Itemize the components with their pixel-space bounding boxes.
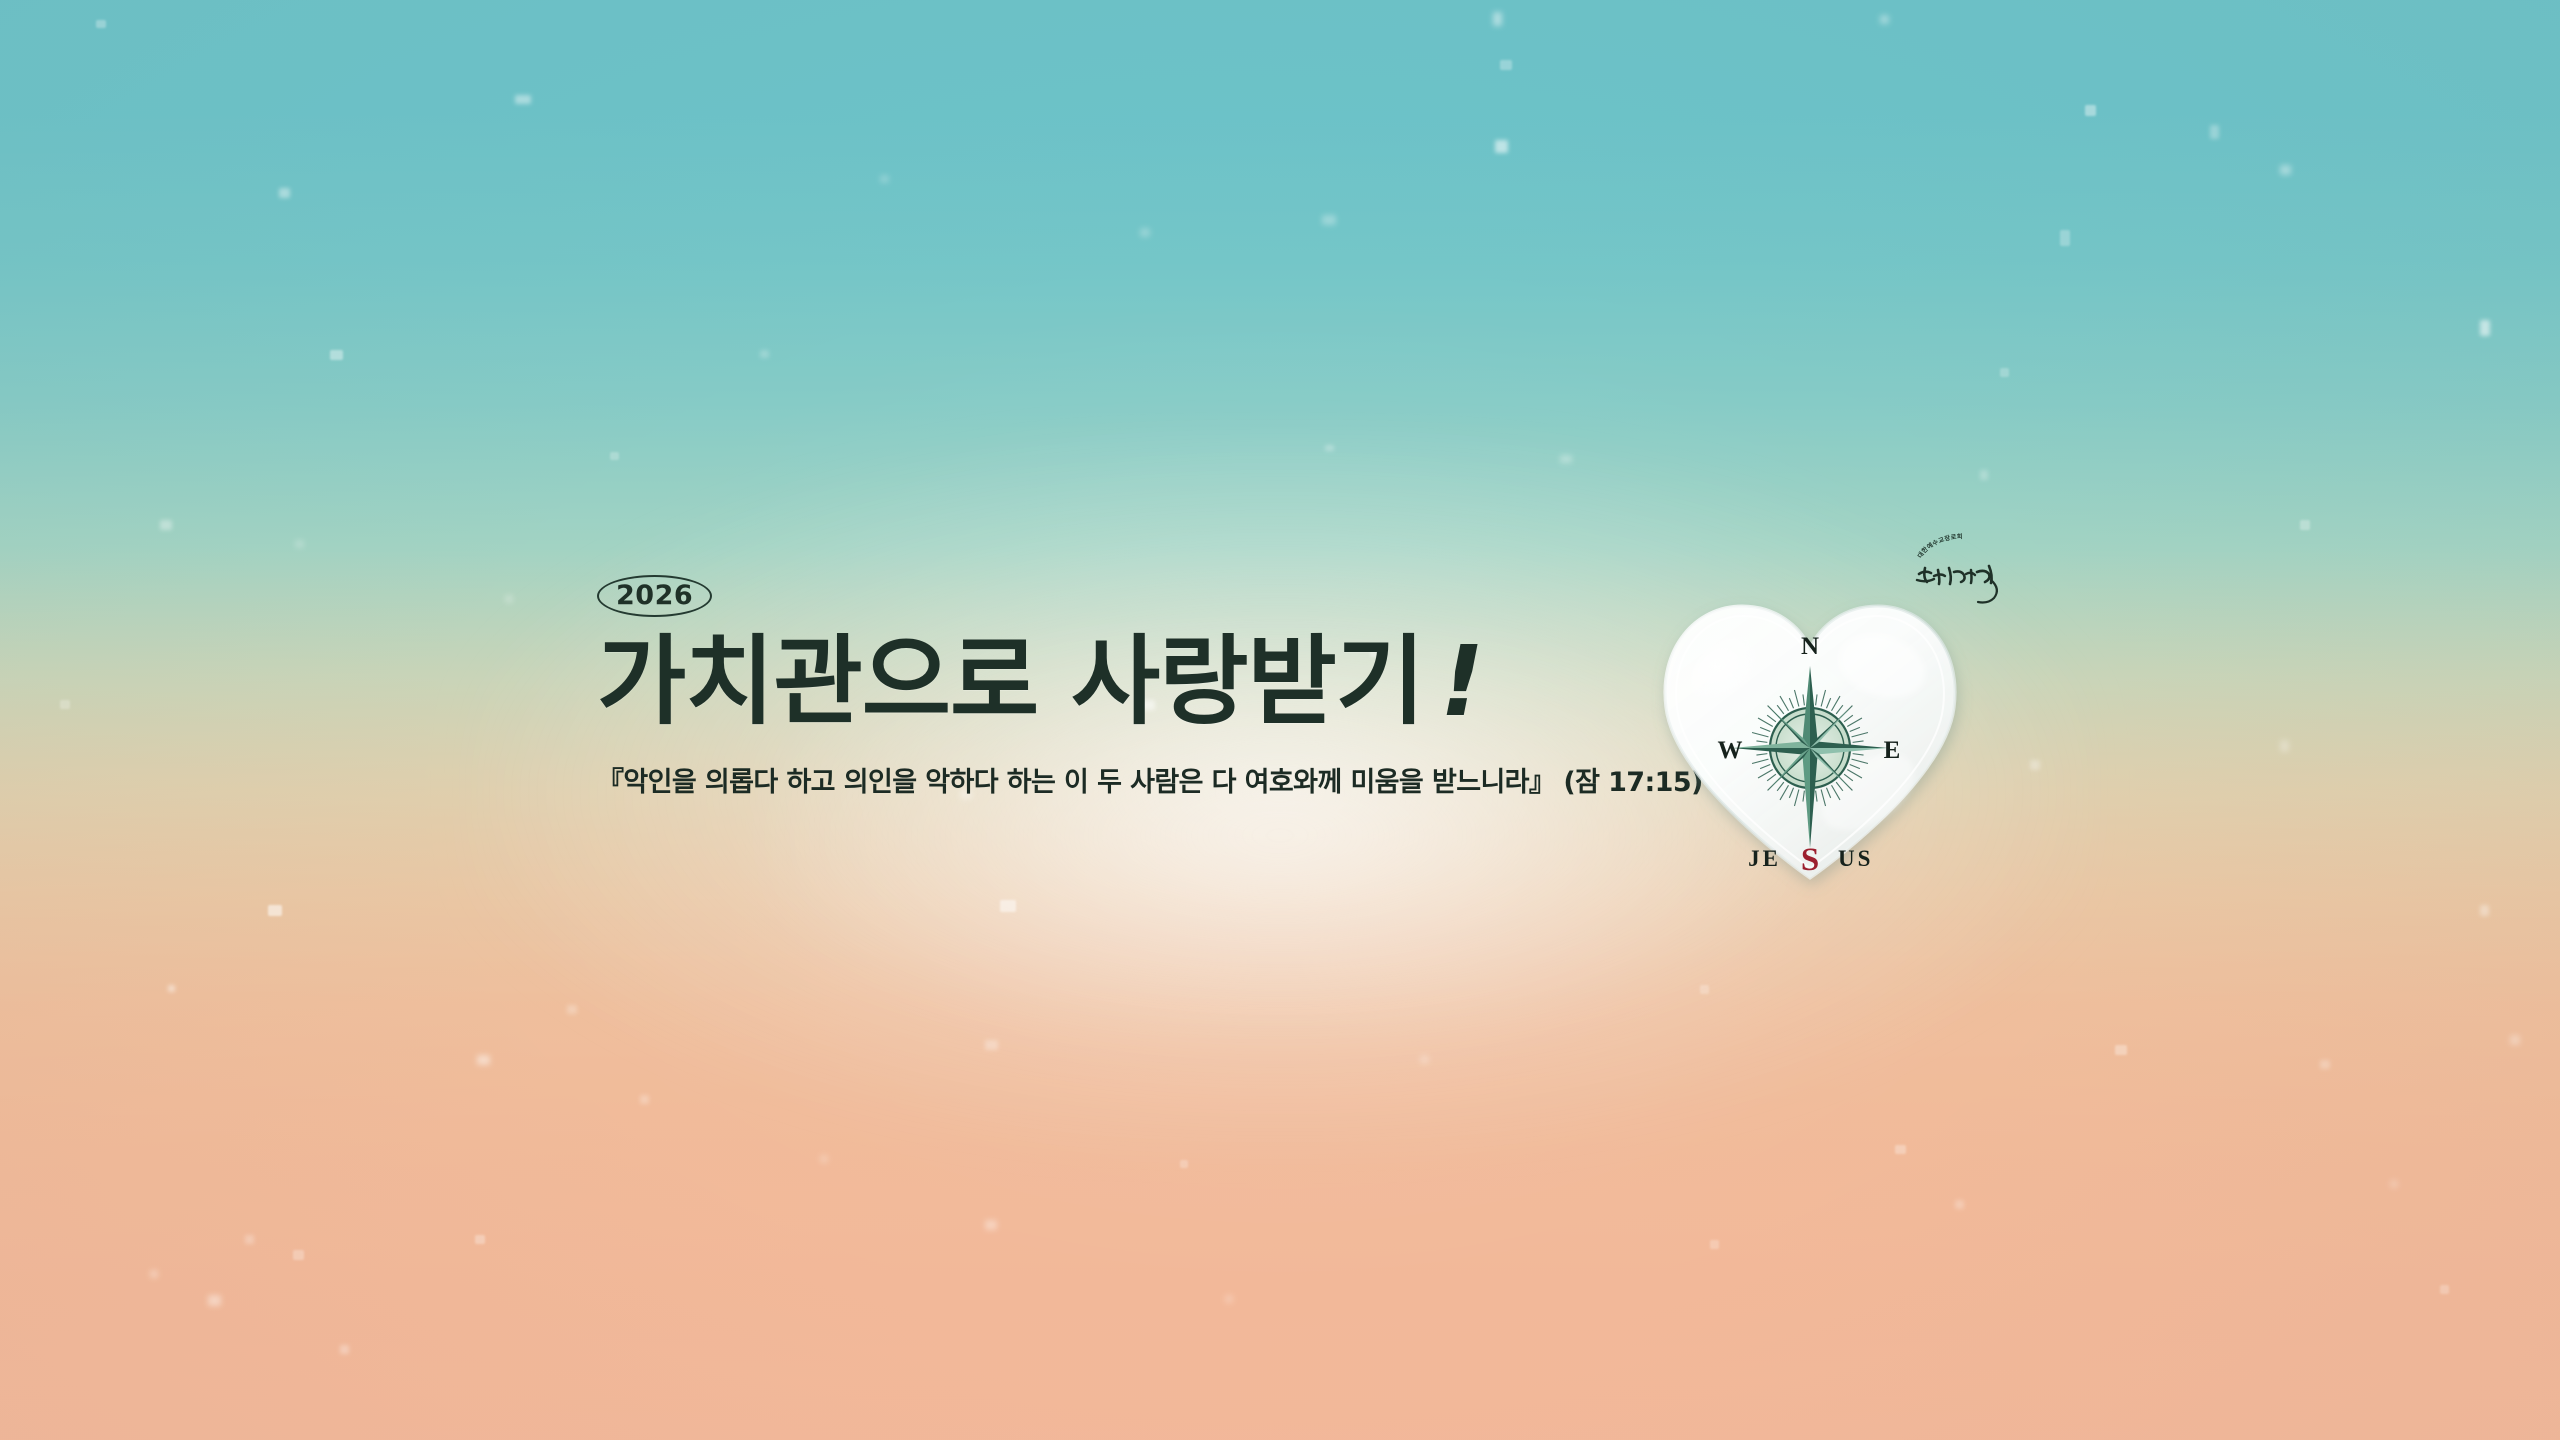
year-badge: 2026 [597,575,712,617]
page-title: 가치관으로 사랑받기! [597,631,1697,734]
bible-verse: 『악인을 의롭다 하고 의인을 악하다 하는 이 두 사람은 다 여호와께 미움… [597,760,1697,799]
jesus-prefix: JE [1748,846,1781,871]
heart-logo: N W E JE S US [1660,596,1960,888]
compass-label-west: W [1718,737,1743,764]
compass-label-east: E [1884,737,1901,764]
headline-block: 2026 가치관으로 사랑받기! 『악인을 의롭다 하고 의인을 악하다 하는 … [597,575,1697,799]
page-title-text: 가치관으로 사랑받기 [597,625,1424,738]
church-arc-textpath: 대한예수교장로회 [1916,532,1963,559]
church-signature-mark: 대한예수교장로회 하나교회 [1905,528,2015,603]
banner-canvas: 2026 가치관으로 사랑받기! 『악인을 의롭다 하고 의인을 악하다 하는 … [0,0,2560,1440]
church-arc-text: 대한예수교장로회 [1916,532,1963,559]
exclamation-mark: ! [1424,625,1483,738]
compass-label-north: N [1801,633,1819,660]
jesus-wordmark: JE S US [1748,842,1873,878]
church-script-strokes [1917,566,1997,603]
jesus-south-s: S [1801,842,1819,878]
jesus-suffix: US [1838,846,1873,871]
bible-verse-text: 『악인을 의롭다 하고 의인을 악하다 하는 이 두 사람은 다 여호와께 미움… [597,767,1555,798]
